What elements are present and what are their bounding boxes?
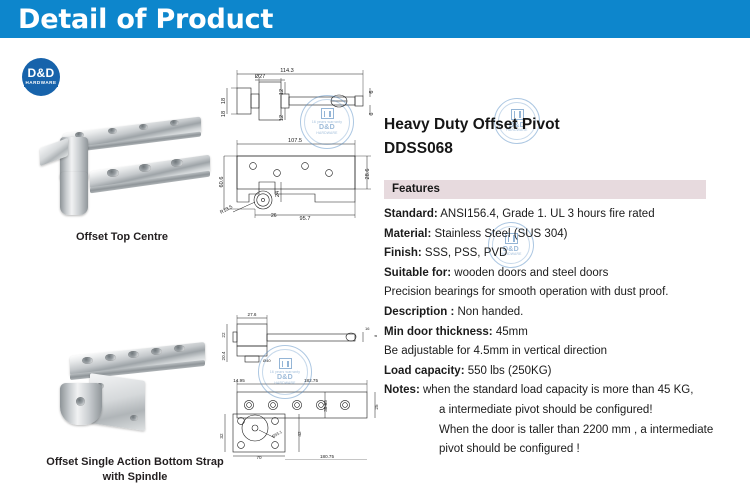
render-hole [107, 169, 119, 177]
feature-value: when the standard load capacity is more … [420, 384, 694, 396]
page-header-banner: Detail of Product [0, 0, 750, 38]
render2-hole [130, 415, 138, 421]
svg-text:18: 18 [221, 98, 227, 104]
feature-label: Description : [384, 306, 454, 318]
feature-line: Precision bearings for smooth operation … [384, 283, 750, 303]
features-heading-bar: Features [384, 180, 706, 199]
render2-hole [82, 357, 93, 364]
feature-value: Stainless Steel (SUS 304) [431, 228, 567, 240]
svg-text:12: 12 [279, 89, 285, 95]
feature-label: Load capacity: [384, 365, 465, 377]
bottom-strap-caption-line2: with Spindle [0, 470, 275, 485]
feature-label: Suitable for: [384, 267, 451, 279]
render-pivot-cylinder-lower [60, 172, 88, 215]
feature-line: Finish: SSS, PSS, PVD [384, 244, 750, 264]
feature-line: Notes: when the standard load capacity i… [384, 381, 750, 401]
feature-line: Suitable for: wooden doors and steel doo… [384, 264, 750, 284]
svg-text:180.75: 180.75 [320, 454, 334, 459]
feature-label: Material: [384, 228, 431, 240]
feature-value: pivot should be configured ! [439, 443, 580, 455]
svg-text:12: 12 [279, 115, 285, 121]
feature-value: Precision bearings for smooth operation … [384, 286, 668, 298]
render2-spindle-screw [76, 397, 85, 406]
feature-value: 45mm [493, 326, 528, 338]
svg-text:60.6: 60.6 [219, 177, 225, 188]
bottom-strap-technical-drawing: 27.6 22 20.4 Ø40 16 8 14.95 182.75 25 38… [215, 310, 385, 460]
svg-text:107.5: 107.5 [288, 138, 302, 144]
feature-line: a intermediate pivot should be configure… [384, 401, 750, 421]
svg-text:28.6: 28.6 [365, 169, 371, 180]
feature-value: ANSI156.4, Grade 1. UL 3 hours fire rate… [438, 208, 655, 220]
offset-single-action-bottom-strap-render [32, 335, 212, 445]
feature-value: SSS, PSS, PVD [422, 247, 508, 259]
svg-text:6: 6 [369, 112, 375, 115]
offset-top-centre-render [35, 115, 210, 220]
render-hole [170, 120, 179, 126]
feature-value: When the door is taller than 2200 mm , a… [439, 424, 713, 436]
product-model-number: DDSS068 [384, 140, 453, 158]
svg-text:Ø40: Ø40 [263, 358, 271, 363]
svg-text:182.75: 182.75 [304, 378, 318, 383]
offset-top-centre-technical-drawing: 114.3 Ø27 18 18 12 12 6 6 107.5 28.6 60.… [215, 52, 380, 220]
render-hole [139, 124, 148, 130]
svg-text:26: 26 [271, 213, 277, 219]
svg-text:24: 24 [275, 191, 281, 197]
svg-text:20.4: 20.4 [221, 351, 226, 360]
svg-text:14.95: 14.95 [233, 378, 245, 383]
svg-text:18: 18 [221, 111, 227, 117]
page-title: Detail of Product [18, 4, 273, 35]
feature-line: When the door is taller than 2200 mm , a… [384, 421, 750, 441]
render-hole [139, 164, 151, 172]
svg-text:R53.1: R53.1 [271, 429, 283, 439]
features-heading-label: Features [392, 183, 440, 195]
features-list: Standard: ANSI156.4, Grade 1. UL 3 hours… [384, 205, 750, 460]
svg-text:22: 22 [221, 332, 226, 338]
feature-line: Min door thickness: 45mm [384, 323, 750, 343]
svg-text:Ø27: Ø27 [255, 74, 266, 80]
svg-text:38.85: 38.85 [323, 400, 328, 412]
feature-value: wooden doors and steel doors [451, 267, 608, 279]
feature-label: Min door thickness: [384, 326, 493, 338]
feature-line: Description : Non handed. [384, 303, 750, 323]
feature-value: Be adjustable for 4.5mm in vertical dire… [384, 345, 607, 357]
logo-sub-text: HARDWARE [24, 81, 57, 87]
feature-value: a intermediate pivot should be configure… [439, 404, 653, 416]
render2-hole [174, 345, 185, 352]
dd-hardware-logo: D&D HARDWARE [22, 58, 60, 96]
svg-text:8: 8 [373, 334, 378, 337]
feature-line: Material: Stainless Steel (SUS 304) [384, 225, 750, 245]
feature-label: Finish: [384, 247, 422, 259]
svg-text:70: 70 [256, 455, 262, 460]
render2-hole [151, 348, 162, 355]
feature-line: Standard: ANSI156.4, Grade 1. UL 3 hours… [384, 205, 750, 225]
svg-text:32: 32 [219, 433, 224, 439]
feature-label: Notes: [384, 384, 420, 396]
svg-text:25: 25 [374, 404, 379, 410]
feature-line: Load capacity: 550 lbs (250KG) [384, 362, 750, 382]
svg-text:114.3: 114.3 [280, 68, 294, 74]
feature-label: Standard: [384, 208, 438, 220]
feature-line: Be adjustable for 4.5mm in vertical dire… [384, 342, 750, 362]
render-hole [108, 128, 117, 134]
feature-value: 550 lbs (250KG) [465, 365, 552, 377]
offset-top-centre-caption: Offset Top Centre [0, 230, 262, 245]
svg-text:R13.5: R13.5 [219, 204, 234, 216]
feature-value: Non handed. [454, 306, 523, 318]
svg-text:6: 6 [369, 90, 375, 93]
render-hole [171, 159, 183, 167]
render2-hole [105, 354, 116, 361]
svg-text:27.6: 27.6 [248, 312, 257, 317]
logo-main-text: D&D [28, 67, 55, 79]
product-title: Heavy Duty Offset Pivot [384, 116, 560, 134]
feature-line: pivot should be configured ! [384, 440, 750, 460]
render2-hole [128, 351, 139, 358]
svg-text:16: 16 [365, 326, 370, 331]
svg-text:95.7: 95.7 [300, 216, 311, 220]
svg-text:42: 42 [297, 431, 302, 437]
